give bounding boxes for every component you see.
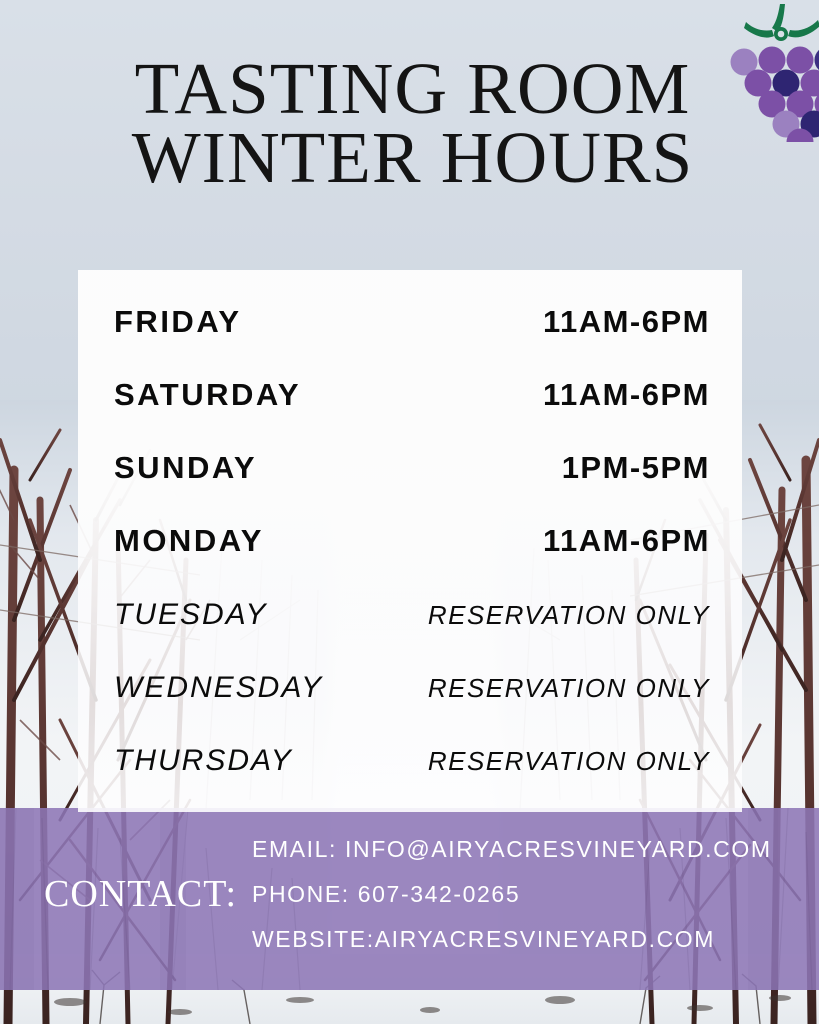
contact-website[interactable]: WEBSITE:AIRYACRESVINEYARD.COM bbox=[252, 928, 792, 951]
hours-value: 11AM-6PM bbox=[543, 304, 710, 340]
hours-panel: FRIDAY11AM-6PMSATURDAY11AM-6PMSUNDAY1PM-… bbox=[78, 270, 742, 812]
hours-row: TUESDAYRESERVATION ONLY bbox=[114, 595, 710, 635]
title-line-2: WINTER HOURS bbox=[0, 123, 819, 192]
page-title: TASTING ROOM WINTER HOURS bbox=[0, 54, 819, 193]
hours-row: WEDNESDAYRESERVATION ONLY bbox=[114, 668, 710, 708]
hours-value: RESERVATION ONLY bbox=[428, 600, 710, 631]
poster-root: TASTING ROOM WINTER HOURS bbox=[0, 0, 819, 1024]
hours-value: 11AM-6PM bbox=[543, 377, 710, 413]
hours-row: MONDAY11AM-6PM bbox=[114, 521, 710, 561]
hours-value: 11AM-6PM bbox=[543, 523, 710, 559]
hours-row: SUNDAY1PM-5PM bbox=[114, 448, 710, 488]
hours-value: RESERVATION ONLY bbox=[428, 673, 710, 704]
hours-value: RESERVATION ONLY bbox=[428, 746, 710, 777]
hours-value: 1PM-5PM bbox=[562, 450, 710, 486]
grape-cluster-icon bbox=[728, 2, 819, 142]
day-label: THURSDAY bbox=[114, 744, 293, 778]
title-line-1: TASTING ROOM bbox=[0, 54, 819, 123]
day-label: SUNDAY bbox=[114, 450, 257, 486]
hours-row-list: FRIDAY11AM-6PMSATURDAY11AM-6PMSUNDAY1PM-… bbox=[78, 270, 742, 812]
contact-details: EMAIL: INFO@AIRYACRESVINEYARD.COM PHONE:… bbox=[252, 838, 792, 973]
hours-row: FRIDAY11AM-6PM bbox=[114, 302, 710, 342]
contact-label: CONTACT: bbox=[44, 872, 237, 916]
hours-row: SATURDAY11AM-6PM bbox=[114, 375, 710, 415]
contact-email[interactable]: EMAIL: INFO@AIRYACRESVINEYARD.COM bbox=[252, 838, 792, 861]
hours-row: THURSDAYRESERVATION ONLY bbox=[114, 741, 710, 781]
contact-phone[interactable]: PHONE: 607-342-0265 bbox=[252, 883, 792, 906]
day-label: SATURDAY bbox=[114, 377, 301, 413]
day-label: FRIDAY bbox=[114, 304, 242, 340]
day-label: TUESDAY bbox=[114, 598, 267, 632]
day-label: WEDNESDAY bbox=[114, 671, 323, 705]
day-label: MONDAY bbox=[114, 523, 264, 559]
